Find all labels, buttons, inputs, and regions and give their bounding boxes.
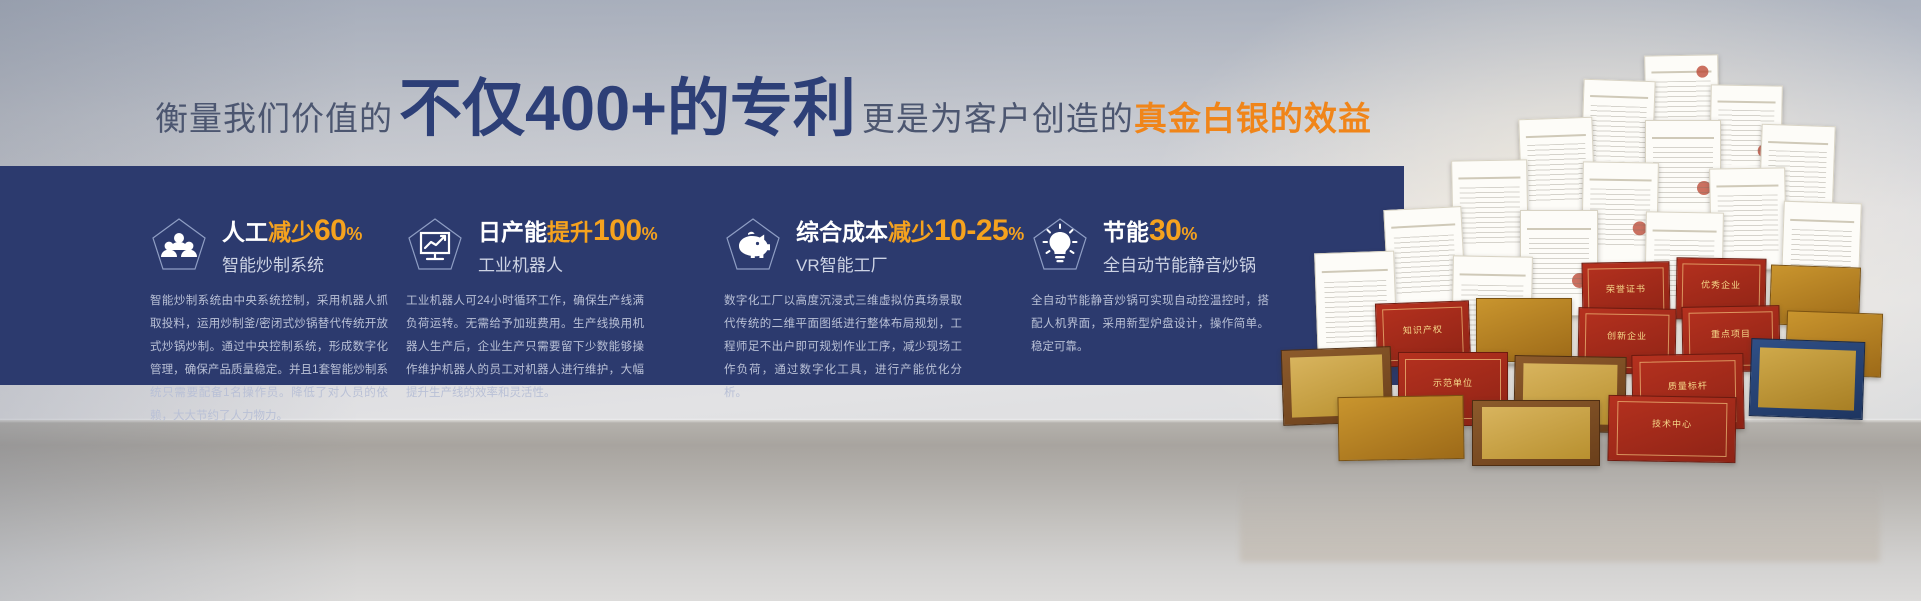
- feature-heading-row: 日产能提升100% 工业机器人: [406, 212, 658, 278]
- feature-metric-unit: %: [1008, 224, 1024, 244]
- people-group-icon: [150, 216, 208, 274]
- feature-title-prefix: 节能: [1103, 219, 1149, 245]
- chart-board-icon: [406, 216, 464, 274]
- feature-heading-row: 综合成本减少10-25% VR智能工厂: [724, 212, 1024, 278]
- feature-metric-value: 60: [314, 214, 346, 247]
- certificate-award-pile: 荣誉证书 优秀企业 知识产权 创新企业 重点项目 示范单位 质量标杆: [1190, 40, 1921, 470]
- feature-title: 综合成本减少10-25%: [796, 212, 1024, 250]
- feature-item-capacity: 日产能提升100% 工业机器人 工业机器人可24小时循环工作，确保生产线满负荷运…: [351, 166, 702, 385]
- feature-title-prefix: 日产能: [478, 219, 547, 245]
- feature-metric-unit: %: [642, 224, 658, 244]
- feature-subtitle: 工业机器人: [478, 253, 658, 279]
- feature-title: 日产能提升100%: [478, 212, 658, 250]
- feature-metric-value: 10-25: [934, 214, 1008, 247]
- feature-title-verb: 提升: [547, 219, 593, 245]
- piggy-bank-icon: [724, 216, 782, 274]
- feature-title-verb: 减少: [268, 219, 314, 245]
- feature-metric-value: 30: [1149, 214, 1181, 247]
- headline-prefix: 衡量我们价值的: [155, 92, 393, 140]
- feature-titles: 日产能提升100% 工业机器人: [478, 212, 658, 278]
- feature-title-prefix: 人工: [222, 219, 268, 245]
- feature-heading-row: 人工减少60% 智能炒制系统: [150, 212, 362, 278]
- feature-title: 人工减少60%: [222, 212, 362, 250]
- headline-emphasis: 不仅400+的专利: [399, 78, 856, 141]
- feature-item-labor: 人工减少60% 智能炒制系统 智能炒制系统由中央系统控制，采用机器人抓取投料，运…: [0, 166, 351, 385]
- feature-title-prefix: 综合成本: [796, 219, 888, 245]
- feature-body-text: 工业机器人可24小时循环工作，确保生产线满负荷运转。无需给予加班费用。生产线换用…: [406, 290, 644, 405]
- headline-middle: 更是为客户创造的: [862, 92, 1134, 140]
- feature-titles: 人工减少60% 智能炒制系统: [222, 212, 362, 278]
- pile-reflection: [1240, 452, 1880, 562]
- feature-metric-value: 100: [593, 214, 642, 247]
- feature-titles: 综合成本减少10-25% VR智能工厂: [796, 212, 1024, 278]
- feature-body-text: 数字化工厂以高度沉浸式三维虚拟仿真场景取代传统的二维平面图纸进行整体布局规划，工…: [724, 290, 962, 405]
- feature-subtitle: VR智能工厂: [796, 253, 1024, 279]
- banner-stage: 衡量我们价值的 不仅400+的专利 更是为客户创造的 真金白银的效益: [0, 0, 1921, 601]
- feature-subtitle: 智能炒制系统: [222, 253, 362, 279]
- award-plaque-blue: [1749, 338, 1866, 420]
- light-bulb-icon: [1031, 216, 1089, 274]
- feature-item-cost: 综合成本减少10-25% VR智能工厂 数字化工厂以高度沉浸式三维虚拟仿真场景取…: [702, 166, 1053, 385]
- feature-title-verb: 减少: [888, 219, 934, 245]
